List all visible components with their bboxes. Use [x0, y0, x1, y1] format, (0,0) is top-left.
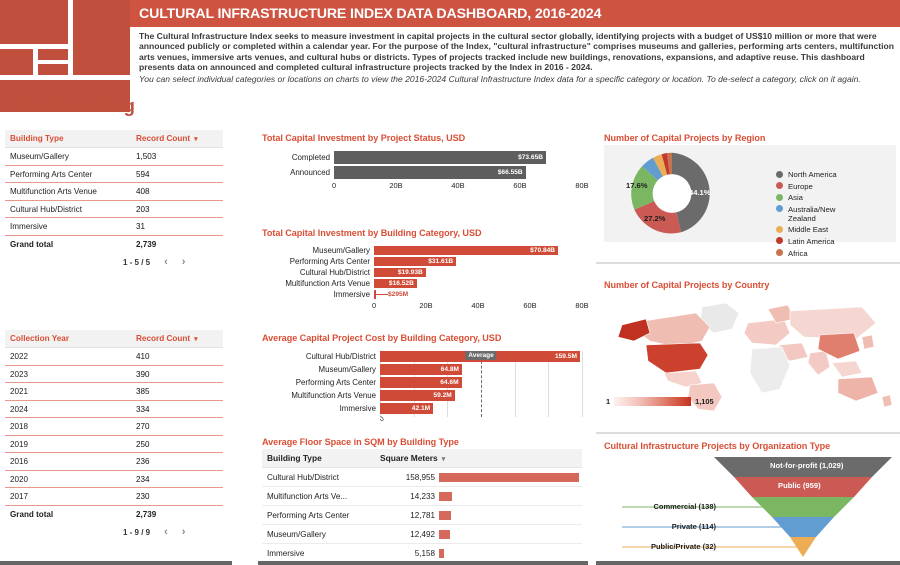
middle-column-footer-bar: [258, 561, 588, 565]
x-tick: 20B: [419, 301, 432, 310]
table-row[interactable]: 2019250: [5, 435, 223, 453]
col-square-meters[interactable]: Square Meters▾: [375, 449, 582, 468]
building-type-pager: 1 - 5 / 5 ‹ ›: [5, 252, 223, 268]
cell-count: 230: [131, 488, 223, 506]
bar-track: $16.52B: [374, 279, 582, 288]
x-tick: 0: [332, 181, 336, 190]
legend-item-north-america[interactable]: North America: [776, 170, 850, 179]
table-row-grand-total: Grand total2,739: [5, 235, 223, 252]
cell-label: Cultural Hub/District: [262, 468, 375, 487]
table-row[interactable]: 2016236: [5, 453, 223, 471]
bar-value-label: 42.1M: [412, 405, 433, 412]
cell-label: 2021: [5, 383, 131, 401]
col-record-count[interactable]: Record Count▾: [131, 330, 223, 348]
bar-value-label: 159.5M: [555, 353, 580, 360]
cell-label: Museum/Gallery: [5, 148, 131, 166]
cell-label: Multifunction Arts Ve...: [262, 487, 375, 506]
chevron-right-icon[interactable]: ›: [182, 526, 186, 538]
chart-projects-by-country: Number of Capital Projects by Country: [604, 280, 896, 418]
country-new-zealand: [882, 395, 892, 407]
bar-track: 64.6M: [380, 377, 582, 388]
value-bar: [439, 549, 444, 558]
bar-track: 64.8M: [380, 364, 582, 375]
legend-gradient-bar: [614, 397, 691, 406]
table-row[interactable]: 2018270: [5, 418, 223, 436]
legend-item-asia[interactable]: Asia: [776, 193, 850, 202]
bar-track: 59.2M: [380, 390, 582, 401]
legend-min: 1: [606, 397, 610, 406]
bar-label: Museum/Gallery: [262, 246, 374, 255]
chart-capital-investment-by-project-status: Total Capital Investment by Project Stat…: [262, 133, 582, 194]
x-tick: 40B: [451, 181, 464, 190]
collection-year-table: Collection Year Record Count▾ 2022410 20…: [5, 330, 223, 522]
cell-value: 5,158: [375, 544, 437, 563]
funnel-label-public: Public (959): [778, 481, 821, 490]
bar-label: Performing Arts Center: [262, 257, 374, 266]
chart-title: Total Capital Investment by Project Stat…: [262, 133, 582, 143]
funnel-label-not-for-profit: Not-for-profit (1,029): [770, 461, 843, 470]
chart-average-floor-space: Average Floor Space in SQM by Building T…: [262, 437, 582, 563]
funnel-label-public-private: Public/Private (32): [604, 542, 716, 551]
cell-label: 2017: [5, 488, 131, 506]
cell-count: 390: [131, 365, 223, 383]
chart-title: Total Capital Investment by Building Cat…: [262, 228, 582, 238]
aea-logo: AEA Consulting: [0, 0, 130, 128]
cell-value: 158,955: [375, 468, 437, 487]
cell-count: 31: [131, 218, 223, 236]
building-type-panel: Building Type Record Count▾ Museum/Galle…: [5, 130, 223, 268]
cell-count: 334: [131, 400, 223, 418]
legend-dot-icon: [776, 194, 783, 201]
funnel-label-private: Private (114): [604, 522, 716, 531]
cell-label: Cultural Hub/District: [5, 200, 131, 218]
chart-projects-by-region: Number of Capital Projects by Region 44.: [604, 133, 896, 242]
cell-count: 203: [131, 200, 223, 218]
legend-item-latin-america[interactable]: Latin America: [776, 237, 850, 246]
sort-caret-icon[interactable]: ▾: [442, 456, 446, 463]
bar-row[interactable]: Immersive $295M: [262, 290, 582, 299]
cell-bar: [437, 487, 582, 506]
world-map-svg[interactable]: [604, 293, 896, 411]
intro-paragraph: The Cultural Infrastructure Index seeks …: [139, 31, 894, 72]
x-axis-clipped: 0: [380, 416, 582, 426]
legend-dot-icon: [776, 182, 783, 189]
country-japan: [862, 335, 874, 349]
table-row[interactable]: 2020234: [5, 470, 223, 488]
cell-value: 12,781: [375, 506, 437, 525]
table-row[interactable]: Immersive31: [5, 218, 223, 236]
bar-value-label: 64.6M: [440, 379, 461, 386]
bar-label: Immersive: [262, 290, 374, 299]
chart-average-capital-project-cost: Average Capital Project Cost by Building…: [262, 333, 582, 426]
cell-count: 1,503: [131, 148, 223, 166]
bar-announced[interactable]: $66.55B: [334, 166, 526, 179]
cell-count: 234: [131, 470, 223, 488]
table-row[interactable]: Museum/Gallery 12,492: [262, 525, 582, 544]
bar-track: $19.93B: [374, 268, 582, 277]
dashboard-page: AEA Consulting CULTURAL INFRASTRUCTURE I…: [0, 0, 900, 565]
average-badge: Average: [465, 351, 496, 360]
table-row-grand-total: Grand total2,739: [5, 505, 223, 522]
legend-dot-icon: [776, 205, 783, 212]
chart-title: Average Floor Space in SQM by Building T…: [262, 437, 582, 447]
cell-count: 385: [131, 383, 223, 401]
donut-chart[interactable]: [612, 145, 732, 242]
chart-projects-by-organization-type: Cultural Infrastructure Projects by Orga…: [604, 441, 896, 565]
funnel-label-commercial: Commercial (138): [604, 502, 716, 511]
legend-label: Europe: [788, 182, 813, 191]
legend-item-australia-nz[interactable]: Australia/New Zealand: [776, 205, 850, 223]
aea-logo-mark: [0, 0, 130, 95]
bar-value-label: $19.93B: [398, 269, 426, 276]
x-tick: 80B: [575, 181, 588, 190]
table-row[interactable]: Museum/Gallery1,503: [5, 148, 223, 166]
bar-value-label: $73.65B: [518, 154, 546, 161]
bar-multifunction-arts-venue[interactable]: $16.52B: [374, 279, 417, 288]
grand-total-value: 2,739: [131, 505, 223, 522]
x-axis: 0 20B 40B 60B 80B: [374, 301, 582, 314]
dashboard-title-bar: CULTURAL INFRASTRUCTURE INDEX DATA DASHB…: [130, 0, 900, 27]
bar-row[interactable]: Multifunction Arts Venue $16.52B: [262, 279, 582, 288]
bar-track: $295M: [374, 290, 582, 299]
bar-track: $31.61B: [374, 257, 582, 266]
value-bar: [439, 511, 451, 520]
intro-text: The Cultural Infrastructure Index seeks …: [139, 31, 894, 84]
bar-label: Cultural Hub/District: [262, 268, 374, 277]
cell-label: 2018: [5, 418, 131, 436]
bar-multifunction-arts-venue[interactable]: 59.2M: [380, 390, 455, 401]
bar-track: $73.65B: [334, 151, 582, 164]
bar-row[interactable]: Announced $66.55B: [262, 166, 582, 179]
map-color-legend: 1 1,105: [606, 397, 714, 406]
value-bar: [439, 473, 579, 482]
floor-space-table: Building Type Square Meters▾ Cultural Hu…: [262, 449, 582, 563]
chevron-left-icon[interactable]: ‹: [164, 256, 168, 268]
x-tick: 60B: [513, 181, 526, 190]
cell-value: 12,492: [375, 525, 437, 544]
divider-map-funnel: [596, 432, 900, 434]
intro-note: You can select individual categories or …: [139, 74, 894, 84]
cell-count: 408: [131, 183, 223, 201]
legend-dot-icon: [776, 237, 783, 244]
table-header-row: Building Type Record Count▾: [5, 130, 223, 148]
donut-container: 44.1% 27.2% 17.6% North America Europe A…: [604, 145, 896, 242]
col-building-type[interactable]: Building Type: [262, 449, 375, 468]
cell-count: 270: [131, 418, 223, 436]
cell-label: 2016: [5, 453, 131, 471]
bar-value-label: $31.61B: [428, 258, 456, 265]
table-row[interactable]: Immersive 5,158: [262, 544, 582, 563]
cell-label: Performing Arts Center: [5, 165, 131, 183]
legend-label: Australia/New Zealand: [788, 205, 850, 223]
chevron-left-icon[interactable]: ‹: [164, 526, 168, 538]
x-tick: 80B: [575, 301, 588, 310]
table-row[interactable]: Cultural Hub/District203: [5, 200, 223, 218]
bar-value-label: 59.2M: [433, 392, 454, 399]
bar-track: $70.84B: [374, 246, 582, 255]
col-record-count[interactable]: Record Count▾: [131, 130, 223, 148]
x-axis: 0 20B 40B 60B 80B: [334, 181, 582, 194]
value-bar: [439, 492, 452, 501]
cell-bar: [437, 544, 582, 563]
bar-label: Immersive: [262, 404, 380, 413]
bar-row[interactable]: Cultural Hub/District $19.93B: [262, 268, 582, 277]
bar-label: Multifunction Arts Venue: [262, 391, 380, 400]
bar-row[interactable]: Completed $73.65B: [262, 151, 582, 164]
bar-value-label: 64.8M: [441, 366, 462, 373]
bar-value-label: $295M: [388, 291, 408, 298]
legend-item-europe[interactable]: Europe: [776, 182, 850, 191]
left-column-footer-bar: [0, 561, 232, 565]
bar-museum-gallery[interactable]: $70.84B: [374, 246, 558, 255]
table-row[interactable]: 2021385: [5, 383, 223, 401]
cell-bar: [437, 525, 582, 544]
bar-performing-arts-center[interactable]: $31.61B: [374, 257, 456, 266]
cell-bar: [437, 468, 582, 487]
chart-title: Cultural Infrastructure Projects by Orga…: [604, 441, 896, 451]
chart-title: Number of Capital Projects by Region: [604, 133, 896, 143]
cell-count: 594: [131, 165, 223, 183]
bar-cultural-hub-district[interactable]: $19.93B: [374, 268, 426, 277]
collection-year-panel: Collection Year Record Count▾ 2022410 20…: [5, 330, 223, 538]
table-row[interactable]: Performing Arts Center594: [5, 165, 223, 183]
funnel-container: Not-for-profit (1,029) Public (959) Comm…: [604, 455, 896, 565]
bar-label: Performing Arts Center: [262, 378, 380, 387]
bar-label: Announced: [262, 168, 334, 177]
cell-label: 2020: [5, 470, 131, 488]
right-column-footer-bar: [596, 561, 900, 565]
table-row[interactable]: Multifunction Arts Venue408: [5, 183, 223, 201]
legend-label: North America: [788, 170, 837, 179]
table-row[interactable]: 2024334: [5, 400, 223, 418]
bar-row[interactable]: Museum/Gallery $70.84B: [262, 246, 582, 255]
x-tick: 60B: [523, 301, 536, 310]
bar-label: Museum/Gallery: [262, 365, 380, 374]
chevron-right-icon[interactable]: ›: [182, 256, 186, 268]
col-building-type[interactable]: Building Type: [5, 130, 131, 148]
legend-label: Africa: [788, 249, 808, 258]
cell-label: Performing Arts Center: [262, 506, 375, 525]
cell-label: 2022: [5, 348, 131, 366]
bar-performing-arts-center[interactable]: 64.6M: [380, 377, 462, 388]
cell-count: 250: [131, 435, 223, 453]
cell-count: 410: [131, 348, 223, 366]
legend-dot-icon: [776, 249, 783, 256]
cell-label: 2023: [5, 365, 131, 383]
legend-label: Middle East: [788, 225, 828, 234]
bar-value-label: $66.55B: [498, 169, 526, 176]
legend-item-africa[interactable]: Africa: [776, 249, 850, 258]
cell-value: 14,233: [375, 487, 437, 506]
bar-row[interactable]: Cultural Hub/District 159.5M Average: [262, 351, 582, 362]
cell-label: Immersive: [5, 218, 131, 236]
cell-bar: [437, 506, 582, 525]
bar-row[interactable]: Performing Arts Center $31.61B: [262, 257, 582, 266]
bar-value-label: $70.84B: [530, 247, 558, 254]
bar-label: Cultural Hub/District: [262, 352, 380, 361]
legend-label: Asia: [788, 193, 803, 202]
x-tick: 40B: [471, 301, 484, 310]
grand-total-value: 2,739: [131, 235, 223, 252]
bar-value-label: $16.52B: [389, 280, 417, 287]
slice-label-europe: 27.2%: [644, 214, 666, 223]
cell-label: Multifunction Arts Venue: [5, 183, 131, 201]
x-tick: 20B: [389, 181, 402, 190]
chart-title: Number of Capital Projects by Country: [604, 280, 896, 290]
grand-total-label: Grand total: [5, 505, 131, 522]
col-collection-year[interactable]: Collection Year: [5, 330, 131, 348]
slice-label-asia: 17.6%: [626, 181, 648, 190]
legend-label: Latin America: [788, 237, 835, 246]
table-row[interactable]: Multifunction Arts Ve... 14,233: [262, 487, 582, 506]
value-bar: [439, 530, 450, 539]
bar-row[interactable]: Multifunction Arts Venue 59.2M: [262, 390, 582, 401]
legend-item-middle-east[interactable]: Middle East: [776, 225, 850, 234]
table-row[interactable]: Performing Arts Center 12,781: [262, 506, 582, 525]
bar-track: $66.55B: [334, 166, 582, 179]
bar-row[interactable]: Immersive 42.1M: [262, 403, 582, 414]
cell-label: Immersive: [262, 544, 375, 563]
bar-museum-gallery[interactable]: 64.8M: [380, 364, 462, 375]
cell-label: 2024: [5, 400, 131, 418]
building-type-table: Building Type Record Count▾ Museum/Galle…: [5, 130, 223, 252]
slice-label-north-america: 44.1%: [689, 188, 711, 197]
table-row[interactable]: 2023390: [5, 365, 223, 383]
chart-title: Average Capital Project Cost by Building…: [262, 333, 582, 343]
table-header-row: Building Type Square Meters▾: [262, 449, 582, 468]
collection-year-pager: 1 - 9 / 9 ‹ ›: [5, 522, 223, 538]
world-map[interactable]: 1 1,105: [604, 293, 896, 418]
sort-caret-icon[interactable]: ▾: [194, 136, 198, 143]
legend-dot-icon: [776, 171, 783, 178]
table-row[interactable]: Cultural Hub/District 158,955: [262, 468, 582, 487]
bar-label: Multifunction Arts Venue: [262, 279, 374, 288]
table-row[interactable]: 2017230: [5, 488, 223, 506]
legend-max: 1,105: [695, 397, 714, 406]
chart-capital-investment-by-building-category: Total Capital Investment by Building Cat…: [262, 228, 582, 314]
bar-immersive[interactable]: 42.1M: [380, 403, 433, 414]
legend-dot-icon: [776, 226, 783, 233]
bar-label: Completed: [262, 153, 334, 162]
bar-completed[interactable]: $73.65B: [334, 151, 546, 164]
bar-row[interactable]: Performing Arts Center 64.6M: [262, 377, 582, 388]
table-row[interactable]: 2022410: [5, 348, 223, 366]
bar-track: 159.5M Average: [380, 351, 582, 362]
aea-logo-text: AEA Consulting: [0, 95, 130, 117]
cell-label: 2019: [5, 435, 131, 453]
grand-total-label: Grand total: [5, 235, 131, 252]
pager-range: 1 - 9 / 9: [123, 528, 150, 537]
cell-label: Museum/Gallery: [262, 525, 375, 544]
divider-region-map: [596, 262, 900, 264]
sort-caret-icon[interactable]: ▾: [194, 336, 198, 343]
page-title: CULTURAL INFRASTRUCTURE INDEX DATA DASHB…: [139, 6, 601, 22]
cell-count: 236: [131, 453, 223, 471]
table-header-row: Collection Year Record Count▾: [5, 330, 223, 348]
x-tick: 0: [372, 301, 376, 310]
bar-track: 42.1M: [380, 403, 582, 414]
bar-row[interactable]: Museum/Gallery 64.8M: [262, 364, 582, 375]
pager-range: 1 - 5 / 5: [123, 258, 150, 267]
region-legend: North America Europe Asia Australia/New …: [776, 170, 850, 260]
